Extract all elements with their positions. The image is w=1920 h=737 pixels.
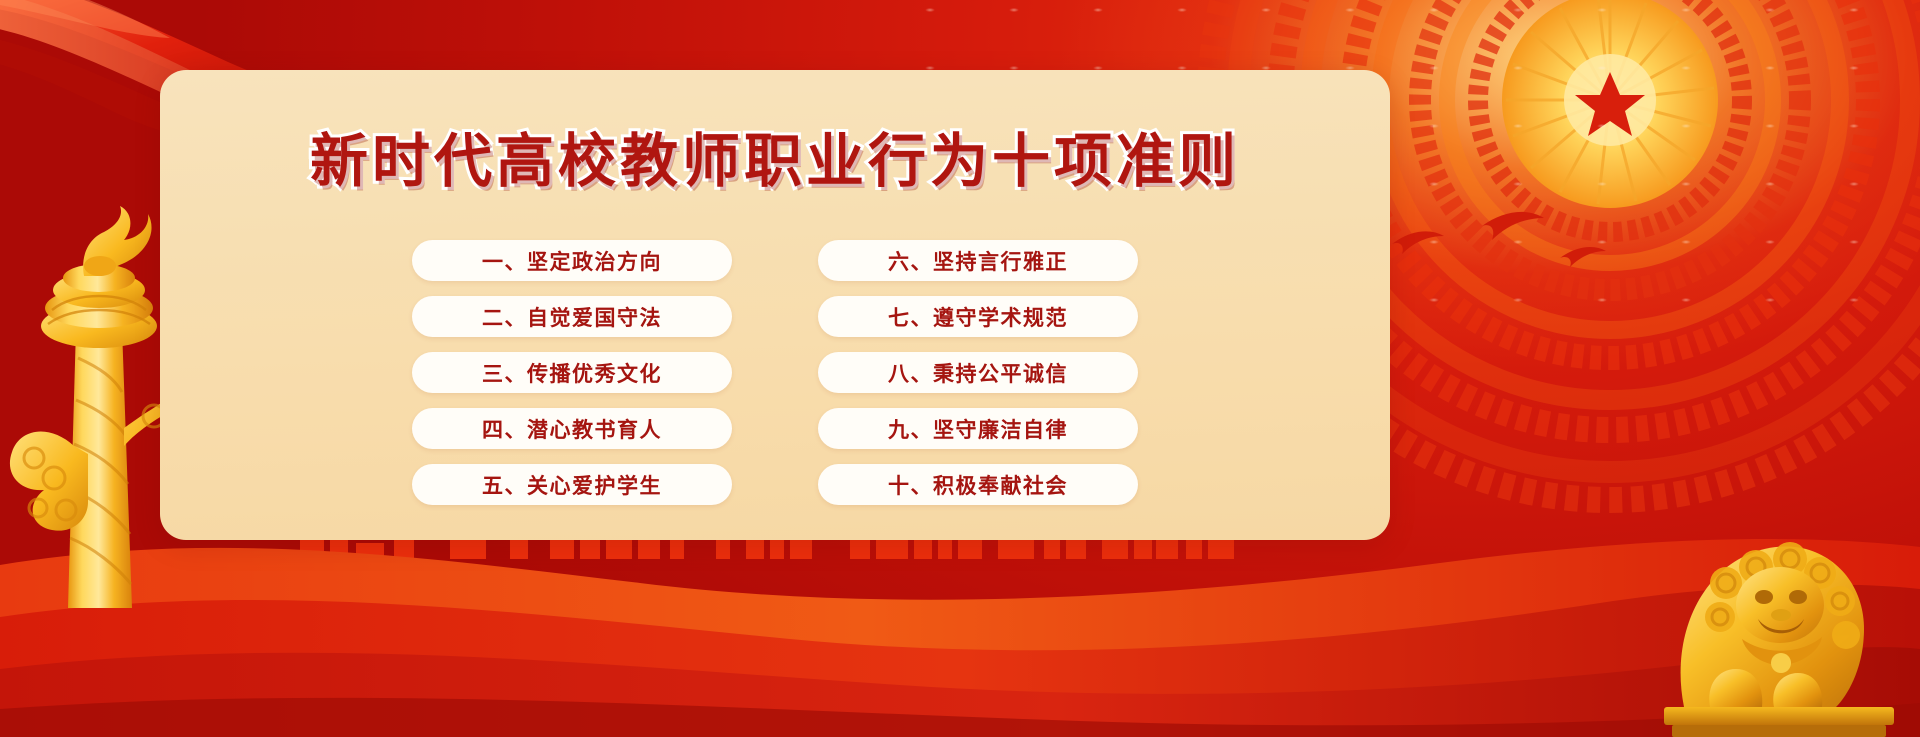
guidelines-grid: 一、坚定政治方向 六、坚持言行雅正 二、自觉爱国守法 七、遵守学术规范 三、传播… [160,240,1390,505]
star-icon [1575,72,1645,136]
guideline-item-7[interactable]: 七、遵守学术规范 [818,296,1138,337]
guideline-item-8[interactable]: 八、秉持公平诚信 [818,352,1138,393]
guideline-item-4[interactable]: 四、潜心教书育人 [412,408,732,449]
guideline-item-6[interactable]: 六、坚持言行雅正 [818,240,1138,281]
guideline-item-1[interactable]: 一、坚定政治方向 [412,240,732,281]
guardian-lion-icon [1614,407,1914,737]
guideline-item-10[interactable]: 十、积极奉献社会 [818,464,1138,505]
page-title: 新时代高校教师职业行为十项准则 [160,132,1390,190]
content-panel: 新时代高校教师职业行为十项准则 一、坚定政治方向 六、坚持言行雅正 二、自觉爱国… [160,70,1390,540]
guideline-item-5[interactable]: 五、关心爱护学生 [412,464,732,505]
banner-canvas: 新时代高校教师职业行为十项准则 一、坚定政治方向 六、坚持言行雅正 二、自觉爱国… [0,0,1920,737]
guideline-item-2[interactable]: 二、自觉爱国守法 [412,296,732,337]
guideline-item-3[interactable]: 三、传播优秀文化 [412,352,732,393]
guideline-item-9[interactable]: 九、坚守廉洁自律 [818,408,1138,449]
